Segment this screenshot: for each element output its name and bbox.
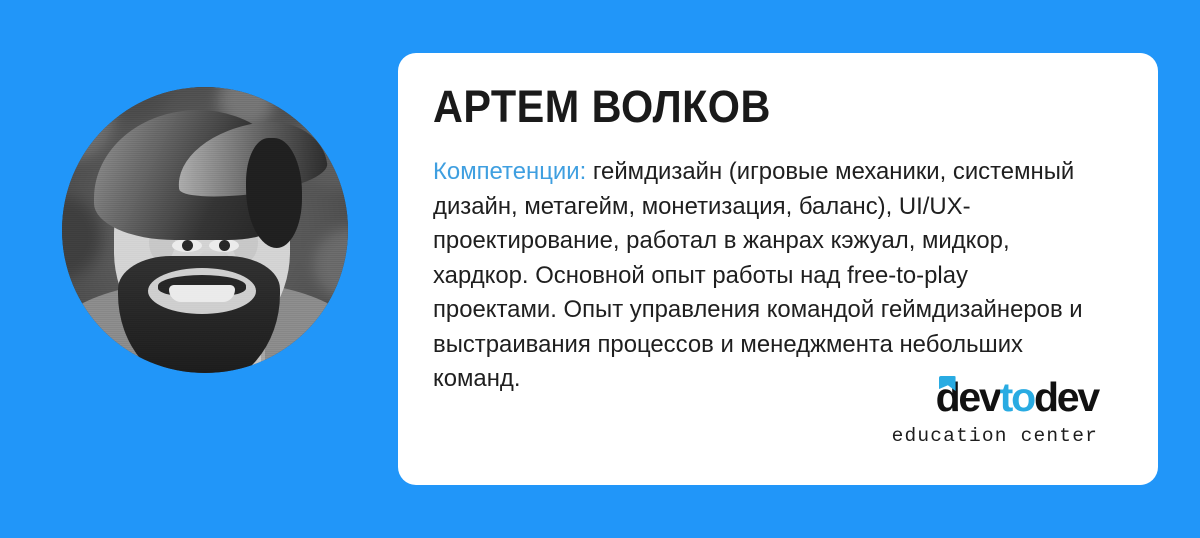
avatar <box>62 87 348 373</box>
portrait-photo <box>62 87 348 373</box>
logo-word-part2: to <box>1000 374 1034 420</box>
logo-wordmark: devtodev <box>936 377 1098 418</box>
bio-label: Компетенции: <box>433 158 586 185</box>
page-title: АРТЕМ ВОЛКОВ <box>433 83 1072 131</box>
bio-text: геймдизайн (игровые механики, системный … <box>433 158 1083 392</box>
speaker-card: АРТЕМ ВОЛКОВ Компетенции: геймдизайн (иг… <box>398 53 1158 485</box>
bio-paragraph: Компетенции: геймдизайн (игровые механик… <box>433 155 1096 397</box>
logo-word-part3: dev <box>1034 374 1098 420</box>
card-content: АРТЕМ ВОЛКОВ Компетенции: геймдизайн (иг… <box>433 83 1128 467</box>
logo-subtitle: education center <box>892 425 1098 447</box>
slide-canvas: АРТЕМ ВОЛКОВ Компетенции: геймдизайн (иг… <box>0 0 1200 538</box>
photo-grain-overlay <box>62 87 348 373</box>
devtodev-logo: devtodev education center <box>892 377 1098 447</box>
